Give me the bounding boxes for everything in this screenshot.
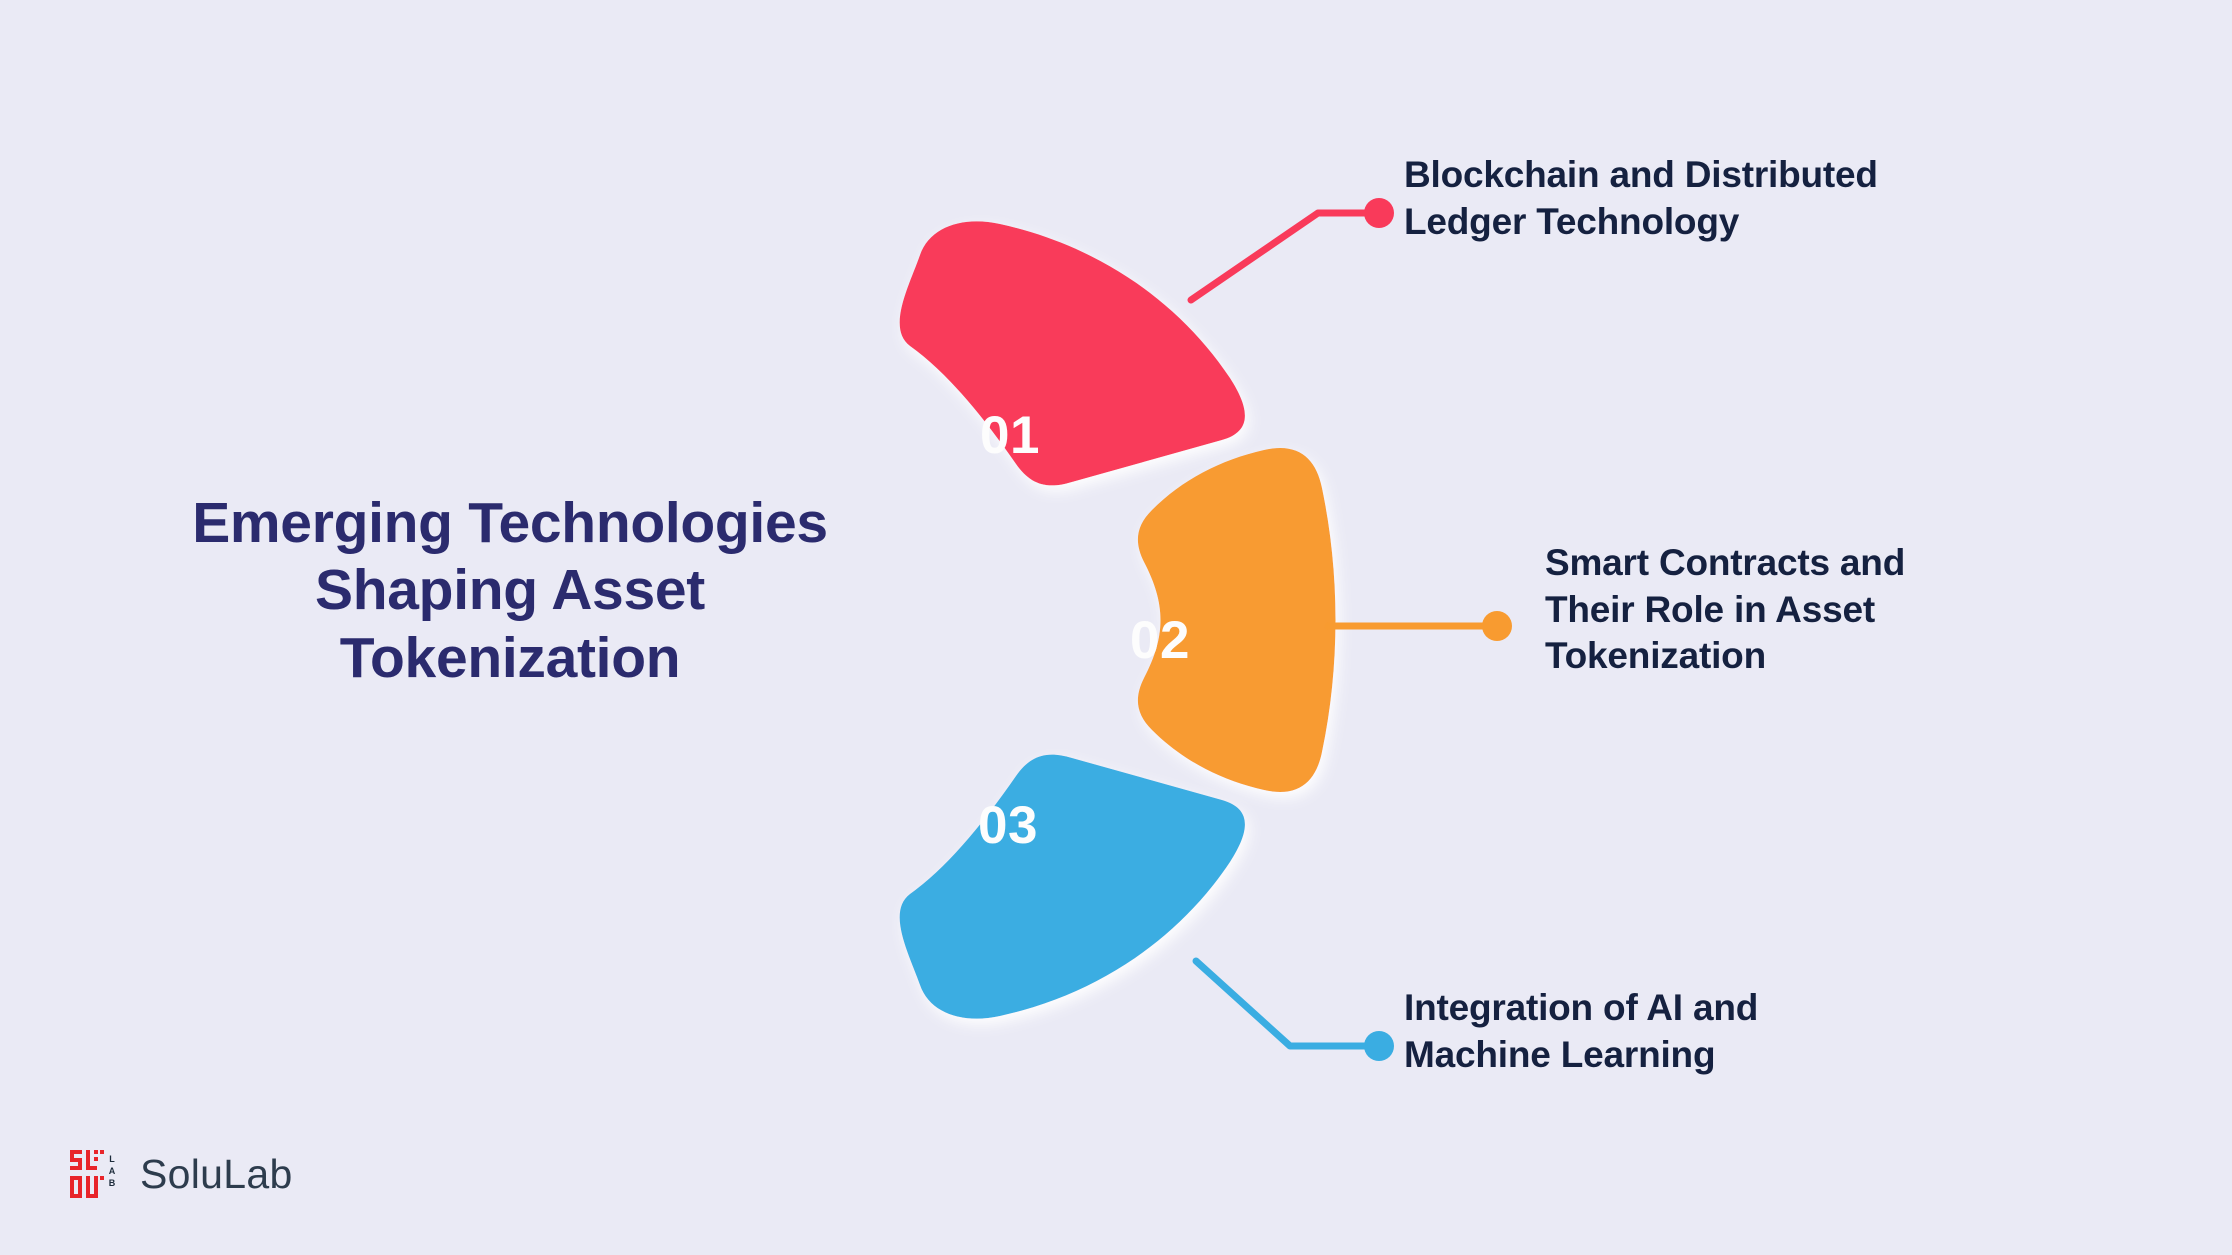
segment-label-02-line-1: Smart Contracts and bbox=[1545, 540, 1905, 587]
svg-text:L: L bbox=[109, 1154, 115, 1164]
segment-label-03-line-1: Integration of AI and bbox=[1404, 985, 1758, 1032]
page-title-line-2: Shaping Asset bbox=[60, 557, 960, 624]
solulab-logo[interactable]: L A B SoluLab bbox=[68, 1146, 293, 1202]
solulab-logo-mark-icon: L A B bbox=[68, 1146, 124, 1202]
page-title: Emerging Technologies Shaping Asset Toke… bbox=[60, 490, 960, 692]
segment-label-01: Blockchain and Distributed Ledger Techno… bbox=[1404, 152, 1878, 245]
segment-label-01-line-1: Blockchain and Distributed bbox=[1404, 152, 1878, 199]
arc-diagram: 01 02 03 bbox=[860, 200, 1480, 1040]
segment-label-02-line-3: Tokenization bbox=[1545, 633, 1905, 680]
segment-label-03-line-2: Machine Learning bbox=[1404, 1032, 1758, 1079]
infographic-canvas: Emerging Technologies Shaping Asset Toke… bbox=[0, 0, 2232, 1255]
segment-shape-03[interactable] bbox=[900, 755, 1245, 1019]
segment-label-03: Integration of AI and Machine Learning bbox=[1404, 985, 1758, 1078]
segment-label-02-line-2: Their Role in Asset bbox=[1545, 587, 1905, 634]
svg-text:B: B bbox=[109, 1178, 116, 1188]
segment-label-02: Smart Contracts and Their Role in Asset … bbox=[1545, 540, 1905, 680]
segment-shape-01[interactable] bbox=[900, 221, 1245, 485]
segment-label-01-line-2: Ledger Technology bbox=[1404, 199, 1878, 246]
page-title-line-3: Tokenization bbox=[60, 625, 960, 692]
solulab-logo-text: SoluLab bbox=[140, 1154, 293, 1195]
segment-shape-02[interactable] bbox=[1138, 448, 1336, 792]
connector-dot-02 bbox=[1482, 611, 1512, 641]
svg-text:A: A bbox=[109, 1166, 116, 1176]
page-title-line-1: Emerging Technologies bbox=[60, 490, 960, 557]
